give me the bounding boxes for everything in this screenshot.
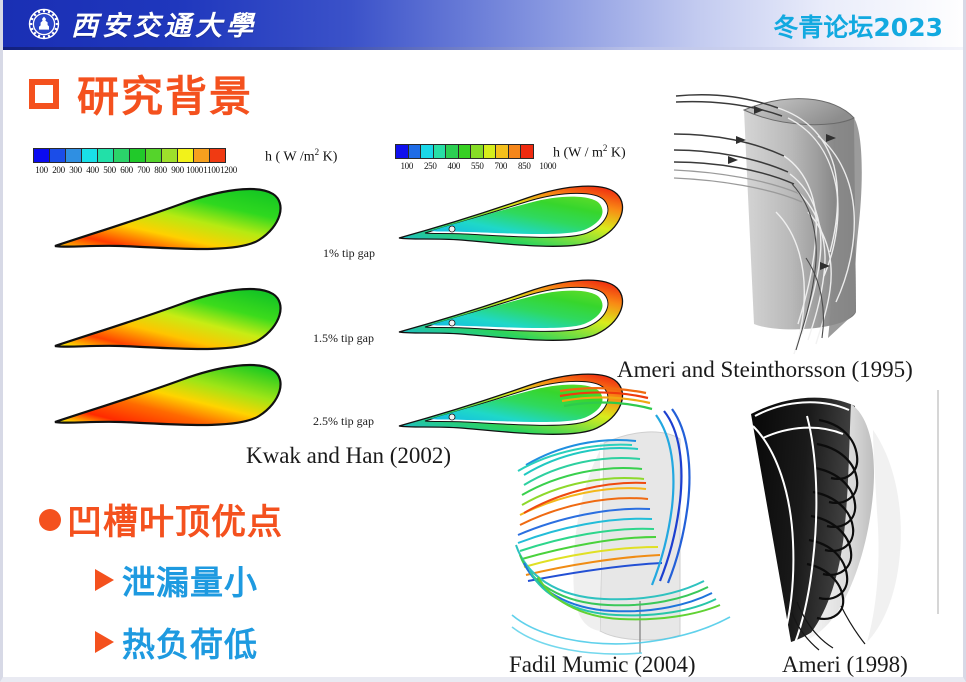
colorbar-ticks: 1002504005507008501000	[395, 161, 560, 171]
colorbar-swatch	[483, 144, 497, 159]
page-title: 研究背景	[29, 63, 253, 124]
blade-tip-streamline-greyscale	[658, 62, 958, 357]
colorbar-tick: 250	[419, 161, 443, 171]
colorbar-swatch	[445, 144, 459, 159]
colorbar-tick: 200	[50, 165, 67, 175]
colorbar-swatch	[395, 144, 409, 159]
colorbar-tick: 300	[67, 165, 84, 175]
bullet-sub-2: 热负荷低	[95, 618, 258, 666]
colorbar-swatch	[129, 148, 146, 163]
page-title-text: 研究背景	[77, 63, 253, 124]
colorbar-swatches	[395, 144, 560, 159]
colorbar-tick: 1000	[536, 161, 560, 171]
arrow-right-icon	[95, 569, 114, 591]
colorbar-swatch	[33, 148, 50, 163]
colorbar-swatch	[193, 148, 210, 163]
colorbar-swatch	[495, 144, 509, 159]
arrow-right-icon	[95, 631, 114, 653]
colorbar-tick: 100	[33, 165, 50, 175]
colorbar-unit-label: h (W / m2 K)	[553, 143, 626, 162]
bullet-main-text: 凹槽叶顶优点	[67, 494, 283, 545]
colorbar-swatch	[470, 144, 484, 159]
colorbar-tick: 1100	[203, 165, 220, 175]
colorbar-swatch	[81, 148, 98, 163]
colorbar-swatch	[97, 148, 114, 163]
blade-tip-flow-bw	[745, 390, 941, 652]
colorbar-swatch	[145, 148, 162, 163]
colorbar-swatch	[49, 148, 66, 163]
colorbar-unit-label: h ( W /m2 K)	[265, 147, 337, 166]
flat-tip-heat-transfer-contours	[51, 178, 311, 428]
figure-caption-kwak-han: Kwak and Han (2002)	[246, 443, 451, 469]
square-bullet-icon	[29, 79, 59, 109]
bullet-sub-2-text: 热负荷低	[122, 618, 258, 666]
colorbar-tick: 400	[442, 161, 466, 171]
colorbar-tick: 1000	[186, 165, 203, 175]
tip-gap-label-2: 1.5% tip gap	[313, 331, 374, 346]
colorbar-swatch	[209, 148, 226, 163]
figure-caption-ameri-1995: Ameri and Steinthorsson (1995)	[617, 357, 913, 383]
colorbar-tick: 800	[152, 165, 169, 175]
bullet-main: 凹槽叶顶优点	[39, 494, 283, 545]
colorbar-swatch	[408, 144, 422, 159]
header-underline	[3, 47, 966, 50]
squealer-tip-colorbar: 1002504005507008501000 h (W / m2 K)	[395, 144, 560, 171]
colorbar-swatch	[508, 144, 522, 159]
xjtu-emblem-icon	[28, 8, 60, 40]
colorbar-tick: 550	[466, 161, 490, 171]
figure-caption-ameri-1998: Ameri (1998)	[782, 652, 908, 678]
colorbar-swatch	[458, 144, 472, 159]
colorbar-tick: 700	[489, 161, 513, 171]
filled-circle-bullet-icon	[39, 509, 61, 531]
blade-tip-streamline-color	[508, 385, 738, 655]
colorbar-swatch	[161, 148, 178, 163]
colorbar-tick: 700	[135, 165, 152, 175]
forum-name: 冬青论坛2023	[773, 8, 943, 44]
tip-gap-label-3: 2.5% tip gap	[313, 414, 374, 429]
presentation-slide: 西安交通大學 冬青论坛2023 研究背景 1002003004005006007…	[0, 0, 966, 682]
colorbar-tick: 600	[118, 165, 135, 175]
figure-caption-mumic: Fadil Mumic (2004)	[509, 652, 696, 678]
colorbar-tick: 900	[169, 165, 186, 175]
colorbar-swatch	[65, 148, 82, 163]
colorbar-ticks: 100200300400500600700800900100011001200	[33, 165, 237, 175]
bullet-sub-1: 泄漏量小	[95, 556, 258, 604]
university-name: 西安交通大學	[71, 4, 257, 43]
colorbar-tick: 850	[513, 161, 537, 171]
colorbar-swatch	[420, 144, 434, 159]
colorbar-tick: 100	[395, 161, 419, 171]
bullet-sub-1-text: 泄漏量小	[122, 556, 258, 604]
colorbar-swatch	[113, 148, 130, 163]
colorbar-tick: 1200	[220, 165, 237, 175]
tip-gap-label-1: 1% tip gap	[323, 246, 375, 261]
colorbar-tick: 500	[101, 165, 118, 175]
colorbar-swatches	[33, 148, 237, 163]
flat-tip-colorbar: 100200300400500600700800900100011001200 …	[33, 148, 237, 175]
colorbar-tick: 400	[84, 165, 101, 175]
colorbar-swatch	[433, 144, 447, 159]
colorbar-swatch	[520, 144, 534, 159]
colorbar-swatch	[177, 148, 194, 163]
